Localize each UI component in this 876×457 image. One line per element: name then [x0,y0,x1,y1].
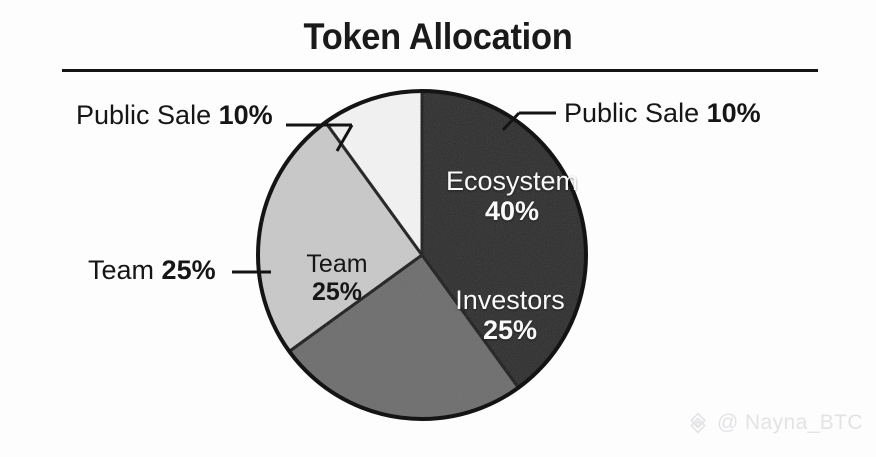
pie-chart [0,0,876,457]
diamond-logo-icon [686,411,710,435]
chart-canvas: Token Allocation [0,0,876,457]
callout-public-sale-right: Public Sale 10% [564,98,761,129]
callout-team-left: Team 25% [88,255,216,286]
callout-team-left-value: 25% [162,255,216,285]
watermark-text: @ Nayna_BTC [717,411,863,435]
callout-public-sale-left: Public Sale 10% [76,100,273,131]
callout-team-left-name: Team [88,255,154,285]
callout-public-sale-left-name: Public Sale [76,100,211,130]
callout-public-sale-right-value: 10% [707,98,761,128]
pie-chart-svg [0,0,876,457]
callout-public-sale-left-value: 10% [219,100,273,130]
callout-public-sale-right-name: Public Sale [564,98,699,128]
watermark: @ Nayna_BTC [686,411,863,435]
